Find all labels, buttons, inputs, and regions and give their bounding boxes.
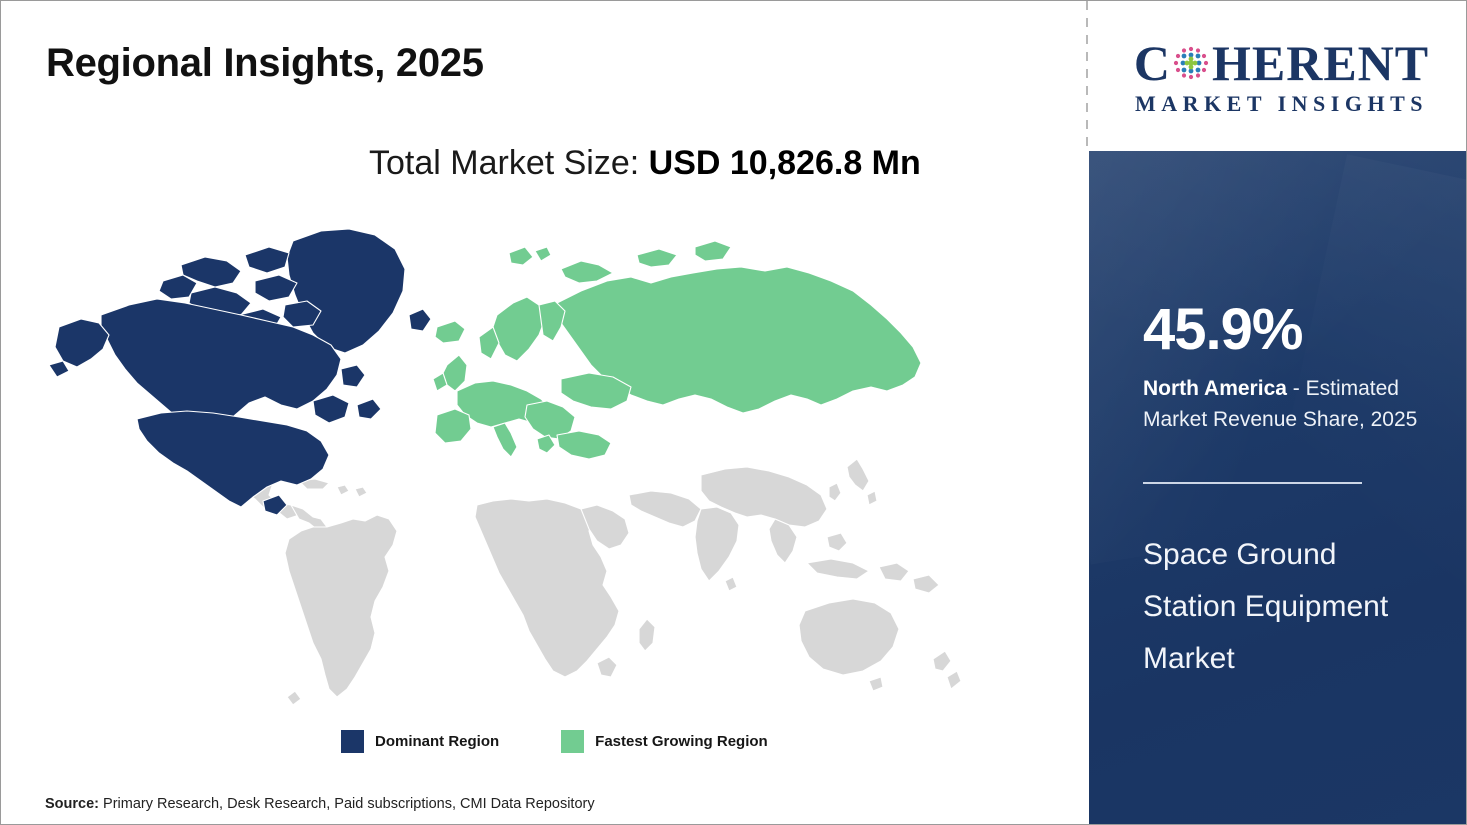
brand-logo-letters-herent: HERENT xyxy=(1212,38,1429,88)
map-region-fastest-growing xyxy=(433,241,921,459)
globe-dots-icon xyxy=(1171,43,1211,83)
share-region-name: North America xyxy=(1143,377,1287,400)
legend-swatch-dominant xyxy=(341,730,364,753)
highlight-panel: 45.9% North America - Estimated Market R… xyxy=(1089,151,1467,825)
brand-logo-wordmark: C xyxy=(1109,37,1454,89)
total-market-size-label: Total Market Size: xyxy=(369,144,649,182)
legend-swatch-fastest-growing xyxy=(561,730,584,753)
share-percent: 45.9% xyxy=(1143,301,1302,359)
infographic-canvas: Regional Insights, 2025 Total Market Siz… xyxy=(0,0,1467,825)
source-label: Source: xyxy=(45,796,99,812)
page-title: Regional Insights, 2025 xyxy=(46,41,484,86)
total-market-size: Total Market Size: USD 10,826.8 Mn xyxy=(369,144,921,183)
world-map-svg xyxy=(41,219,993,719)
source-text: Primary Research, Desk Research, Paid su… xyxy=(99,796,595,812)
legend-label-fastest-growing: Fastest Growing Region xyxy=(595,733,768,750)
panel-divider xyxy=(1143,482,1362,484)
brand-logo-letter-c: C xyxy=(1134,38,1171,88)
brand-logo: C xyxy=(1109,37,1454,117)
world-map xyxy=(41,219,993,719)
source-note: Source: Primary Research, Desk Research,… xyxy=(45,796,595,812)
legend-item-dominant: Dominant Region xyxy=(341,730,499,753)
map-legend: Dominant Region Fastest Growing Region xyxy=(341,730,768,753)
market-name: Space Ground Station Equipment Market xyxy=(1143,529,1405,685)
map-region-rest-of-world xyxy=(183,449,961,705)
legend-label-dominant: Dominant Region xyxy=(375,733,499,750)
share-description: North America - Estimated Market Revenue… xyxy=(1143,373,1448,436)
legend-item-fastest-growing: Fastest Growing Region xyxy=(561,730,768,753)
brand-logo-tagline: MARKET INSIGHTS xyxy=(1109,91,1454,117)
vertical-dashed-divider xyxy=(1086,1,1088,151)
total-market-size-value: USD 10,826.8 Mn xyxy=(649,144,921,182)
globe-dots-icon-svg xyxy=(1171,43,1211,83)
map-region-dominant xyxy=(49,229,431,515)
